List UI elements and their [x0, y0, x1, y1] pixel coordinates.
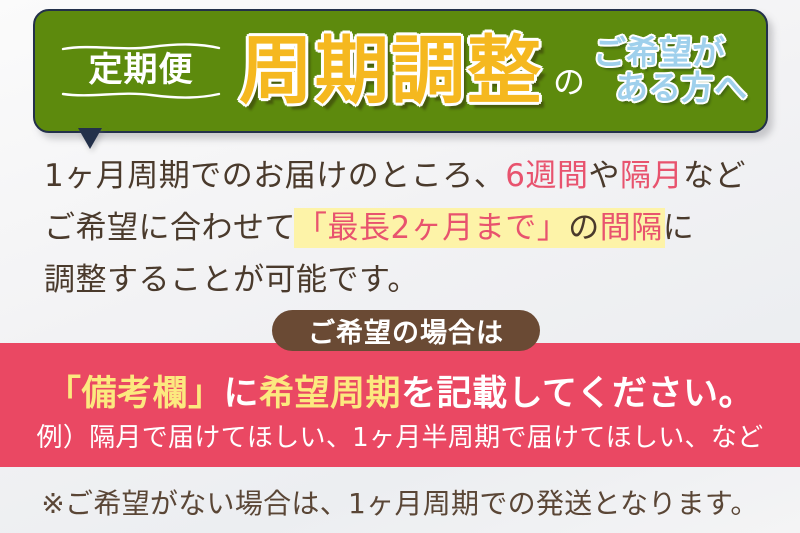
- body-line-1-accent-2: 隔月: [620, 158, 683, 194]
- body-line-1-after: など: [683, 158, 746, 194]
- body-line-2-before: ご希望に合わせて: [44, 210, 296, 246]
- body-line-1-accent-1: 6週間: [505, 158, 588, 194]
- body-line-2: ご希望に合わせて「最長2ヶ月まで」の間隔に: [44, 202, 760, 254]
- body-line-2-highlight-accent-2: 間隔: [600, 210, 663, 246]
- instruction-headline-yellow-1: 「備考欄」: [46, 374, 224, 414]
- banner-subtitle-line-2: ある方へ: [615, 71, 747, 106]
- body-line-3: 調整することが可能です。: [44, 254, 760, 306]
- banner-subtitle-line-1: ご希望が: [593, 36, 747, 71]
- instruction-example: 例）隔月で届けてほしい、1ヶ月半周期で届けてほしい、など: [0, 417, 800, 454]
- instruction-band: 「備考欄」に希望周期を記載してください。 例）隔月で届けてほしい、1ヶ月半周期で…: [0, 343, 800, 467]
- body-line-2-highlight-accent-1: 「最長2ヶ月まで」: [296, 210, 568, 246]
- body-line-1: 1ヶ月周期でのお届けのところ、6週間や隔月など: [44, 150, 760, 202]
- status-badge-label: ご希望の場合は: [308, 311, 504, 350]
- banner-subtitle: ご希望が ある方へ: [593, 36, 747, 106]
- instruction-headline-white-1: に: [224, 374, 260, 414]
- body-copy: 1ヶ月周期でのお届けのところ、6週間や隔月など ご希望に合わせて「最長2ヶ月まで…: [44, 150, 760, 306]
- speech-bubble-tail-icon: [80, 130, 100, 148]
- title-particle: の: [553, 57, 585, 103]
- body-line-2-highlight: 「最長2ヶ月まで」の間隔: [296, 210, 663, 246]
- subscription-tag: 定期便: [61, 43, 221, 98]
- header-speech-bubble: 定期便 周期調整 の ご希望が ある方へ: [33, 9, 768, 133]
- subscription-tag-label: 定期便: [89, 52, 194, 89]
- body-line-1-middle: や: [588, 158, 620, 194]
- body-line-1-before: 1ヶ月周期でのお届けのところ、: [44, 158, 505, 194]
- instruction-headline-white-2: を記載してください。: [401, 374, 754, 414]
- instruction-headline-yellow-2: 希望周期: [259, 374, 401, 414]
- body-line-2-after: に: [663, 210, 695, 246]
- wave-rule-bottom-icon: [61, 90, 221, 99]
- banner-title: 周期調整: [239, 34, 543, 108]
- status-badge: ご希望の場合は: [272, 310, 540, 351]
- footer-note: ※ご希望がない場合は、1ヶ月周期での発送となります。: [0, 482, 800, 522]
- instruction-headline: 「備考欄」に希望周期を記載してください。: [0, 365, 800, 416]
- body-line-2-highlight-plain: の: [568, 210, 600, 246]
- promo-banner: 定期便 周期調整 の ご希望が ある方へ 1ヶ月周期でのお届けのところ、6週間や…: [0, 0, 800, 533]
